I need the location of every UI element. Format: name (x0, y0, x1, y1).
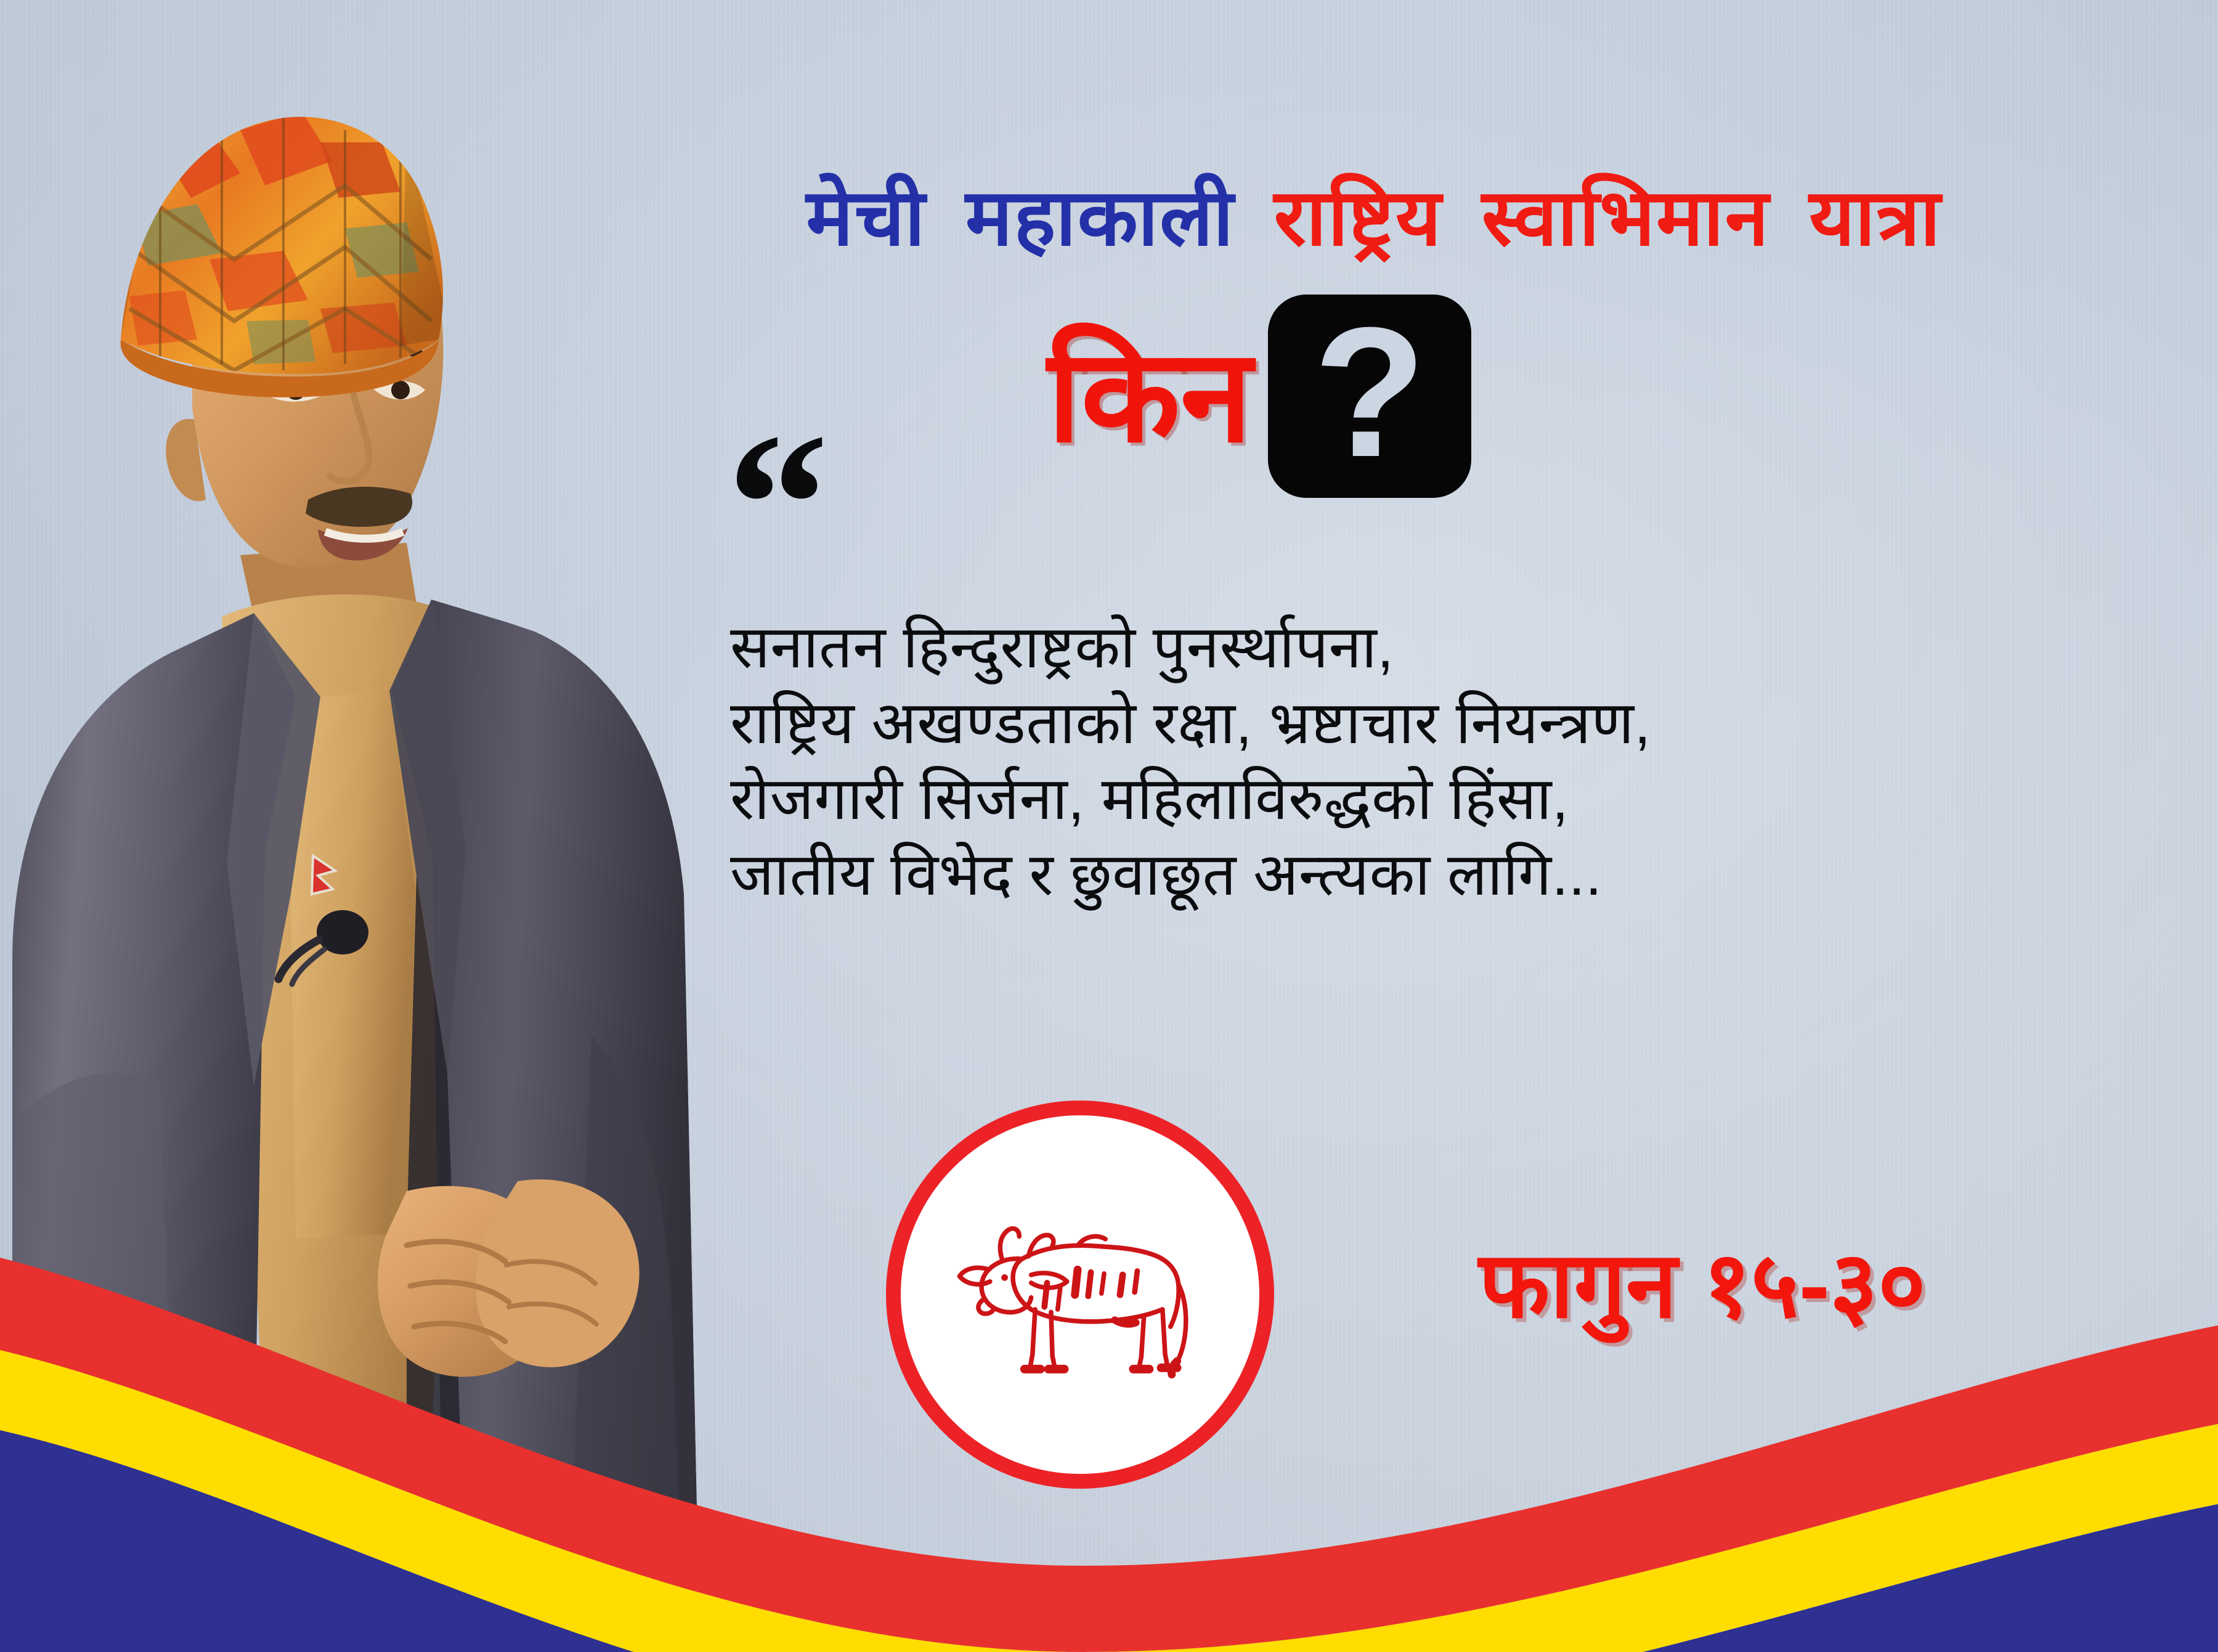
quote-text: सनातन हिन्दुराष्ट्रको पुनर्स्थापना, राष्… (730, 610, 2166, 913)
quote-line-4: जातीय विभेद र छुवाछूत अन्त्यका लागि... (730, 837, 2166, 913)
headline-word: किन (1047, 332, 1252, 461)
headline-row: किन ? (1047, 295, 1471, 498)
quote-line-1: सनातन हिन्दुराष्ट्रको पुनर्स्थापना, (730, 610, 2166, 686)
question-mark-box: ? (1268, 295, 1471, 498)
title-word-4: स्वाभिमान (1482, 174, 1770, 262)
poster-canvas: मेची महाकाली राष्ट्रिय स्वाभिमान यात्रा … (0, 0, 2218, 1652)
title-word-3: राष्ट्रिय (1274, 174, 1443, 262)
title-word-2: महाकाली (965, 174, 1235, 262)
party-emblem (886, 1101, 1274, 1489)
title-word-1: मेची (806, 174, 926, 262)
title-word-5: यात्रा (1809, 174, 1941, 262)
quote-line-3: रोजगारी सिर्जना, महिलाविरुद्धको हिंसा, (730, 762, 2166, 837)
question-mark-glyph: ? (1314, 307, 1426, 477)
page-title: मेची महाकाली राष्ट्रिय स्वाभिमान यात्रा (628, 179, 2119, 258)
dhaka-topi (121, 112, 447, 397)
open-quote-icon: “ (727, 444, 829, 566)
quote-line-2: राष्ट्रिय अखण्डताको रक्षा, भ्रष्टाचार नि… (730, 686, 2166, 762)
cow-symbol-icon (948, 1162, 1213, 1428)
